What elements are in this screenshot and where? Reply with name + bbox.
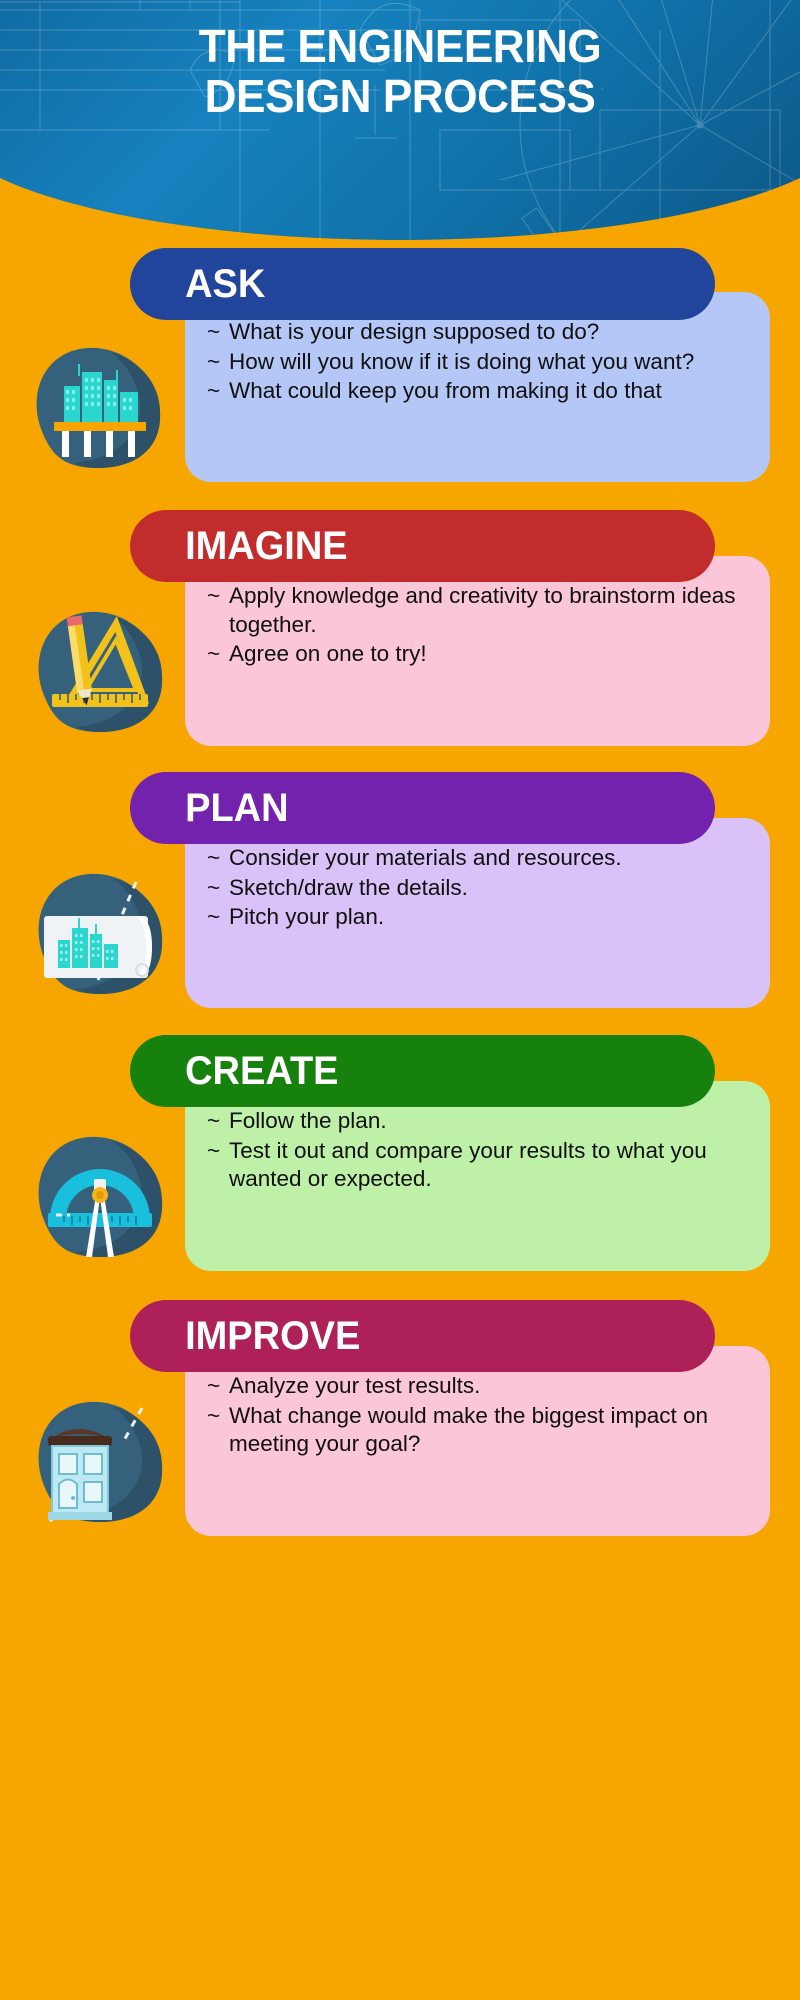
list-item: Test it out and compare your results to …	[207, 1137, 744, 1194]
imagine-body-panel: Apply knowledge and creativity to brains…	[185, 556, 770, 746]
create-body-panel: Follow the plan. Test it out and compare…	[185, 1081, 770, 1271]
plan-bullet-list: Consider your materials and resources. S…	[207, 844, 744, 932]
header: THE ENGINEERING DESIGN PROCESS	[0, 0, 800, 240]
compass-protractor-icon	[18, 1097, 178, 1267]
plan-header-pill[interactable]: PLAN	[130, 772, 715, 844]
ask-title: ASK	[130, 262, 265, 307]
title-line-1: THE ENGINEERING	[16, 22, 784, 72]
improve-title: IMPROVE	[130, 1314, 360, 1359]
improve-bullet-list: Analyze your test results. What change w…	[207, 1372, 744, 1459]
title-line-2: DESIGN PROCESS	[16, 72, 784, 122]
page-title: THE ENGINEERING DESIGN PROCESS	[0, 22, 800, 121]
pencil-ruler-icon	[18, 572, 178, 742]
list-item: Apply knowledge and creativity to brains…	[207, 582, 744, 639]
city-bridge-icon	[18, 308, 178, 478]
list-item: Agree on one to try!	[207, 640, 744, 669]
imagine-header-pill[interactable]: IMAGINE	[130, 510, 715, 582]
house-icon	[18, 1362, 178, 1532]
ask-header-pill[interactable]: ASK	[130, 248, 715, 320]
list-item: What is your design supposed to do?	[207, 318, 744, 347]
list-item: Follow the plan.	[207, 1107, 744, 1136]
blueprint-scroll-icon	[18, 834, 178, 1004]
ask-bullet-list: What is your design supposed to do? How …	[207, 318, 744, 406]
imagine-title: IMAGINE	[130, 524, 348, 569]
list-item: How will you know if it is doing what yo…	[207, 348, 744, 377]
improve-header-pill[interactable]: IMPROVE	[130, 1300, 715, 1372]
create-title: CREATE	[130, 1049, 339, 1094]
list-item: What change would make the biggest impac…	[207, 1402, 744, 1459]
list-item: What could keep you from making it do th…	[207, 377, 744, 406]
imagine-bullet-list: Apply knowledge and creativity to brains…	[207, 582, 744, 669]
ask-body-panel: What is your design supposed to do? How …	[185, 292, 770, 482]
improve-body-panel: Analyze your test results. What change w…	[185, 1346, 770, 1536]
plan-title: PLAN	[130, 786, 289, 831]
infographic-page: THE ENGINEERING DESIGN PROCESS	[0, 0, 800, 2000]
list-item: Consider your materials and resources.	[207, 844, 744, 873]
plan-body-panel: Consider your materials and resources. S…	[185, 818, 770, 1008]
create-header-pill[interactable]: CREATE	[130, 1035, 715, 1107]
list-item: Pitch your plan.	[207, 903, 744, 932]
create-bullet-list: Follow the plan. Test it out and compare…	[207, 1107, 744, 1194]
list-item: Analyze your test results.	[207, 1372, 744, 1401]
list-item: Sketch/draw the details.	[207, 874, 744, 903]
